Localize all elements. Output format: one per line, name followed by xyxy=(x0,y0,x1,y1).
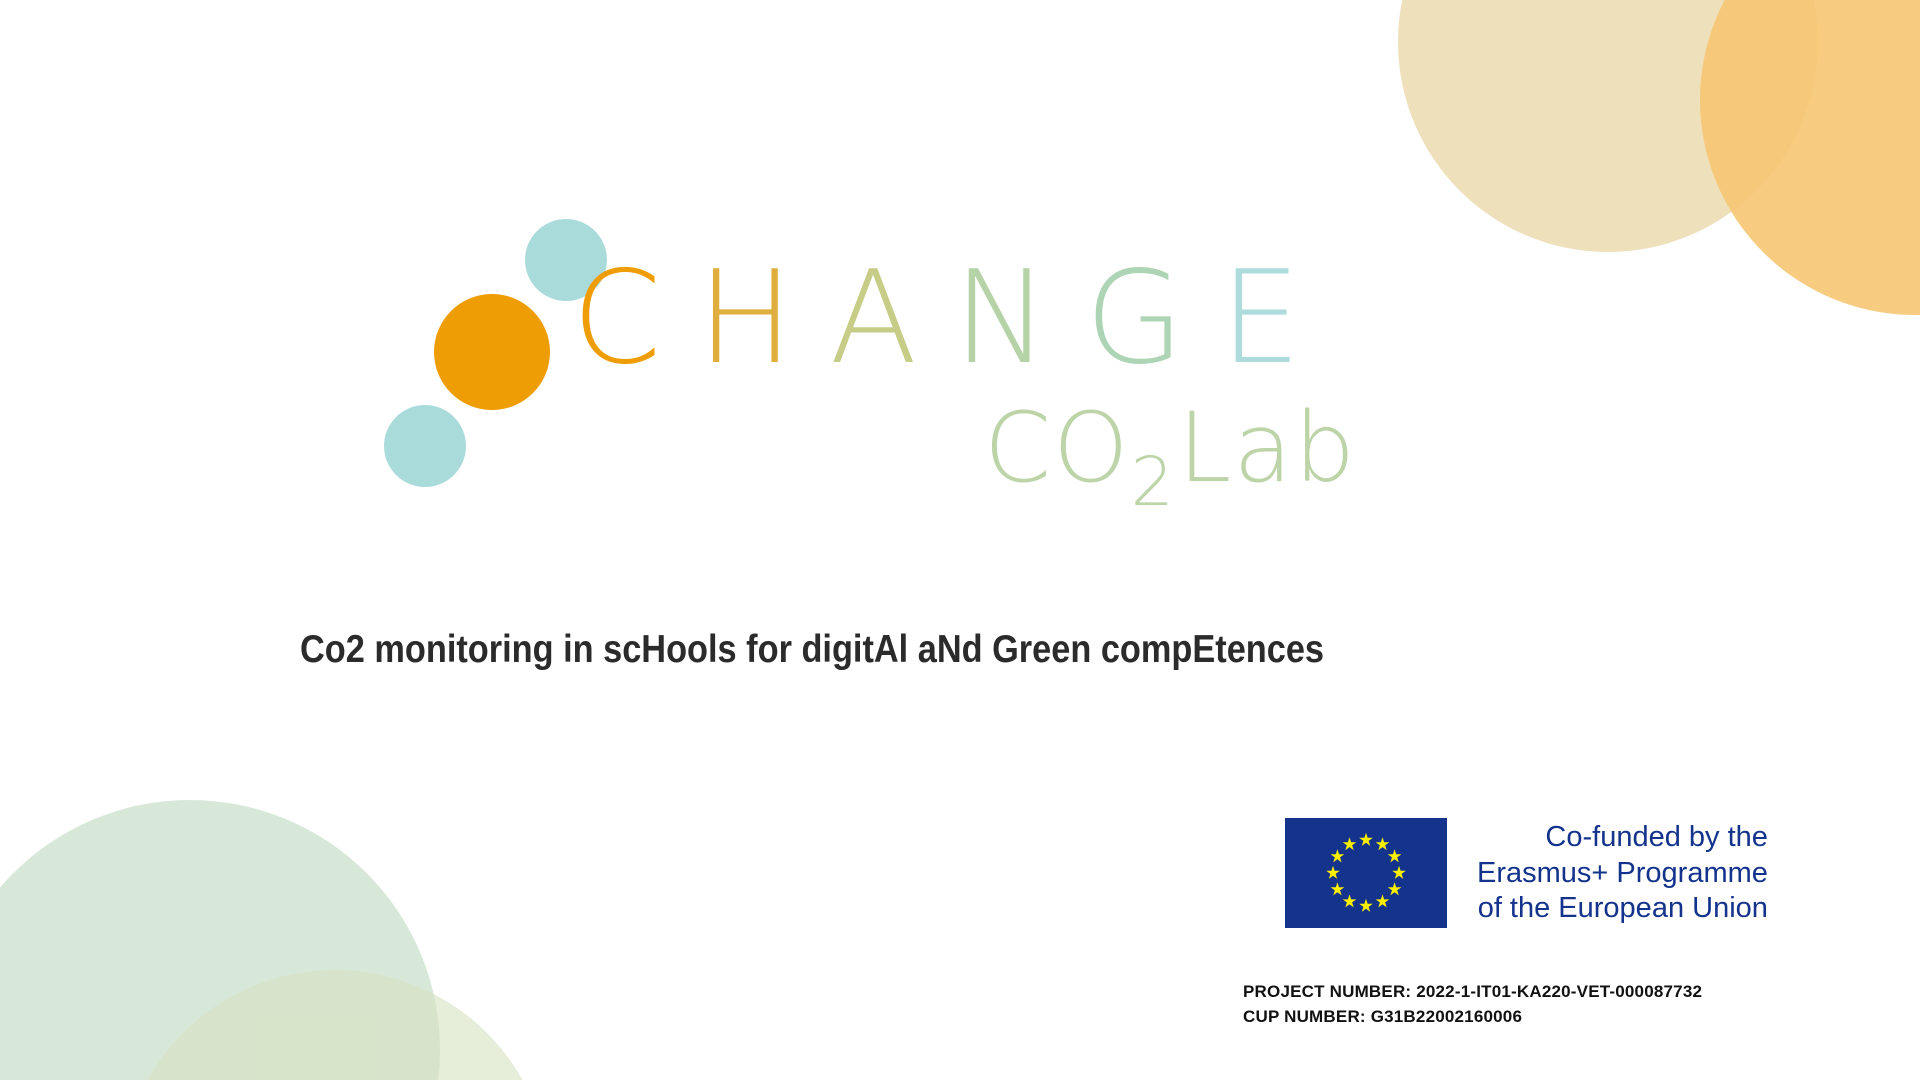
eu-funding-text: Co-funded by the Erasmus+ Programme of t… xyxy=(1477,818,1768,927)
eu-text-line-3: of the European Union xyxy=(1477,891,1768,927)
logo-wordmark: CHANGE xyxy=(572,255,1301,383)
change-co2lab-logo: CHANGE CO2Lab xyxy=(372,198,1552,558)
eu-flag-icon xyxy=(1285,818,1447,928)
logo-letter-e: E xyxy=(1220,255,1301,383)
project-number-line: PROJECT NUMBER: 2022-1-IT01-KA220-VET-00… xyxy=(1243,980,1702,1005)
decorative-circle-amber xyxy=(1700,0,1920,315)
sub-wordmark-subscript: 2 xyxy=(1131,443,1178,522)
eu-text-line-2: Erasmus+ Programme xyxy=(1477,856,1768,892)
project-tagline: Co2 monitoring in scHools for digitAl aN… xyxy=(300,628,1324,672)
teal-dot-bottom-icon xyxy=(384,405,466,487)
eu-funding-block: Co-funded by the Erasmus+ Programme of t… xyxy=(1285,818,1768,928)
project-identifiers: PROJECT NUMBER: 2022-1-IT01-KA220-VET-00… xyxy=(1243,980,1702,1029)
logo-letter-c: C xyxy=(572,255,697,383)
sub-wordmark-prefix: CO xyxy=(984,392,1131,504)
cup-number-line: CUP NUMBER: G31B22002160006 xyxy=(1243,1005,1702,1030)
decorative-circle-green-small xyxy=(120,970,550,1080)
logo-letter-n: N xyxy=(953,255,1085,383)
sub-wordmark-suffix: Lab xyxy=(1178,392,1357,504)
logo-letter-h: H xyxy=(697,255,829,383)
logo-letter-a: A xyxy=(830,255,954,383)
decorative-circle-green-large xyxy=(0,800,440,1080)
presentation-slide: CHANGE CO2Lab Co2 monitoring in scHools … xyxy=(0,0,1920,1080)
logo-sub-wordmark: CO2Lab xyxy=(984,400,1357,517)
orange-dot-icon xyxy=(434,294,550,410)
logo-letter-g: G xyxy=(1085,255,1220,383)
eu-text-line-1: Co-funded by the xyxy=(1477,820,1768,856)
